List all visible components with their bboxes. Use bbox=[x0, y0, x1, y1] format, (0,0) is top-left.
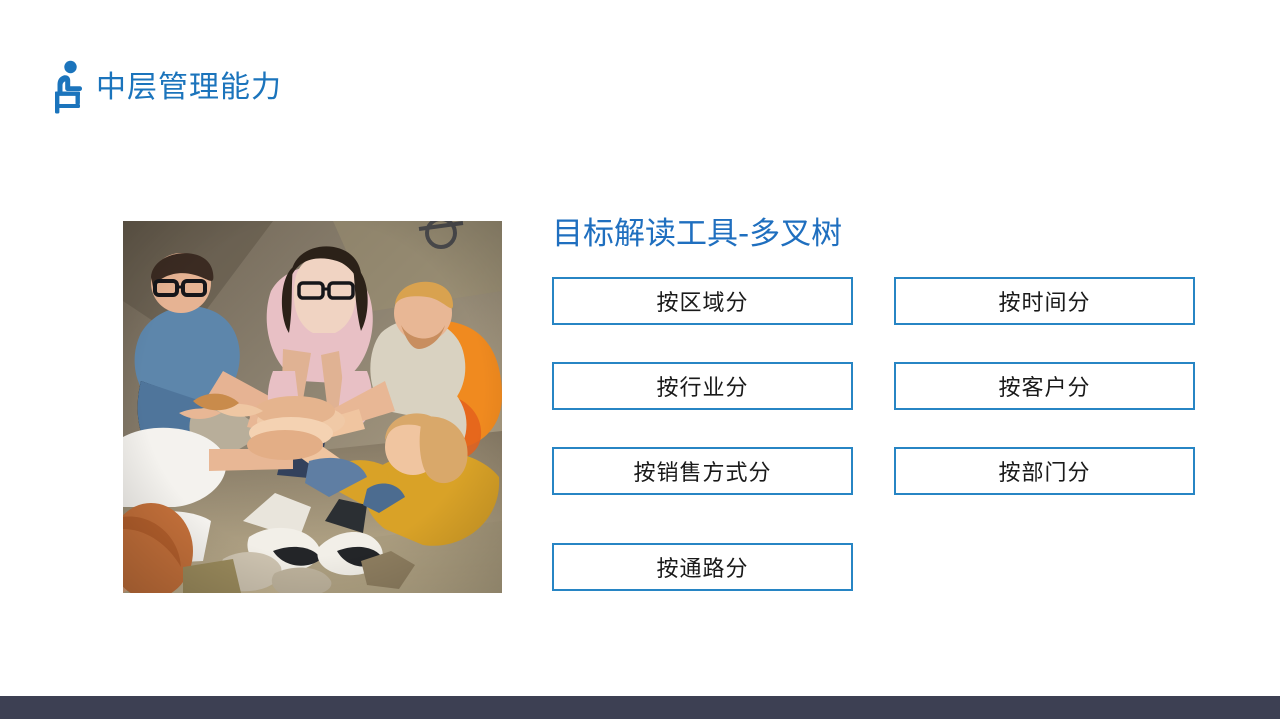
brand-title: 中层管理能力 bbox=[96, 73, 282, 103]
team-photo-illustration bbox=[123, 221, 502, 593]
seated-person-icon bbox=[50, 60, 90, 115]
option-button-by-sales-mode[interactable]: 按销售方式分 bbox=[552, 447, 853, 495]
brand-logo: 中层管理能力 bbox=[50, 60, 282, 115]
slide-canvas: 中层管理能力 bbox=[0, 0, 1280, 719]
option-button-by-channel[interactable]: 按通路分 bbox=[552, 543, 853, 591]
panel-title: 目标解读工具-多叉树 bbox=[552, 216, 842, 253]
option-button-by-region[interactable]: 按区域分 bbox=[552, 277, 853, 325]
option-grid: 按区域分 按时间分 按行业分 按客户分 按销售方式分 按部门分 按通路分 bbox=[552, 277, 1196, 591]
footer-bar bbox=[0, 696, 1280, 719]
option-button-by-time[interactable]: 按时间分 bbox=[894, 277, 1195, 325]
option-button-by-industry[interactable]: 按行业分 bbox=[552, 362, 853, 410]
option-button-by-department[interactable]: 按部门分 bbox=[894, 447, 1195, 495]
team-photo bbox=[123, 221, 502, 593]
option-button-by-customer[interactable]: 按客户分 bbox=[894, 362, 1195, 410]
